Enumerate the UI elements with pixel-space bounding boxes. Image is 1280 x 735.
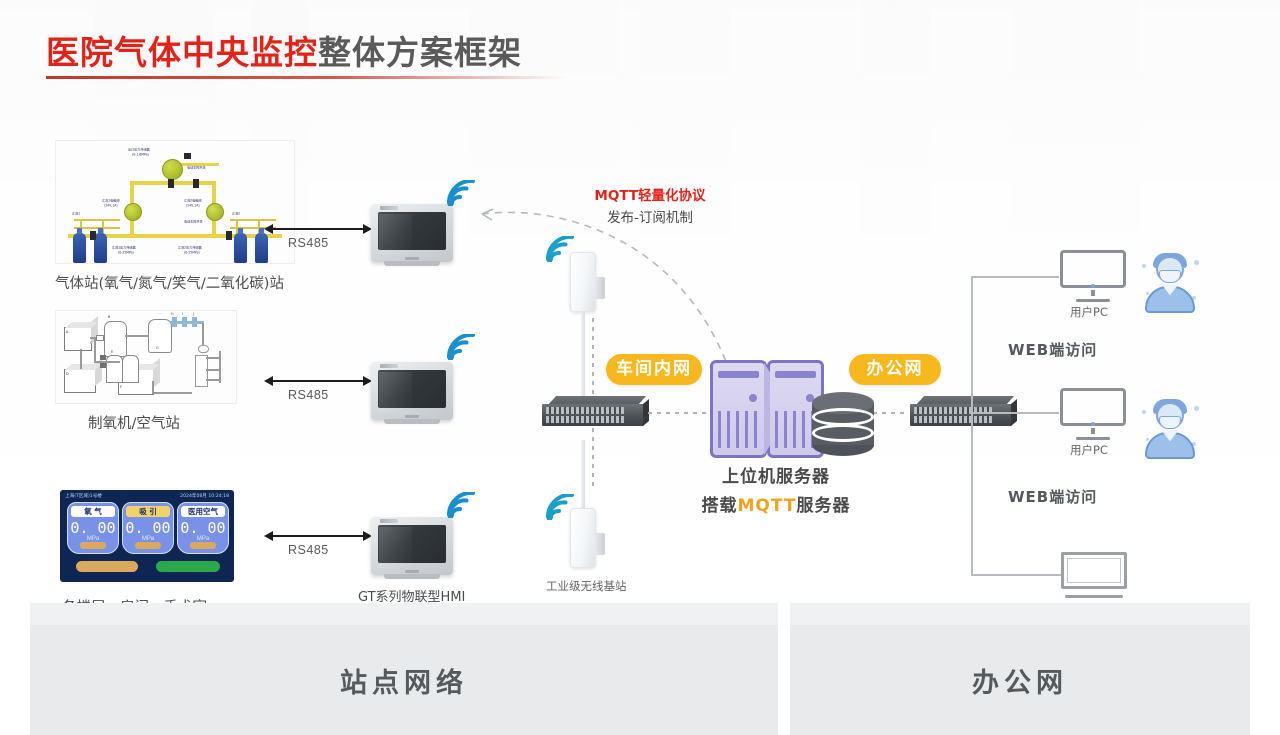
schematic-label: 汇流2压力传感器 — [178, 245, 202, 250]
page-title-highlight: 医院气体中央监控 — [46, 33, 318, 72]
switch-ports-row — [546, 416, 624, 423]
monitor-base — [1076, 437, 1110, 440]
monitor-screen — [1060, 250, 1126, 288]
schematic-label: (24V,1A) — [186, 203, 200, 208]
access-point-caption: 工业级无线基站 — [546, 578, 627, 594]
gauge-title: 医用空气 — [181, 506, 225, 517]
avatar-mask — [1159, 416, 1182, 429]
oxygen-plant-schematic: A E G D F H I J C B — [55, 310, 237, 404]
schematic-label: H — [171, 312, 174, 316]
title-block: 医院气体中央监控整体方案框架 — [46, 26, 522, 74]
server-vents — [718, 411, 759, 448]
hmi-screen-glare — [379, 214, 412, 255]
server-label-prefix: 搭载 — [702, 496, 738, 516]
schematic-label: (0-25MPa) — [184, 250, 200, 255]
gauge-bar — [190, 542, 216, 549]
rs485-arrow-3 — [272, 535, 364, 537]
schematic-label: 汇流1压力传感器 — [112, 245, 136, 250]
link-ap-to-switch — [592, 318, 594, 396]
server-header — [775, 371, 816, 377]
schematic-label: J — [193, 312, 194, 316]
schematic-label: A — [66, 330, 68, 334]
monitor-neck — [1091, 290, 1095, 296]
server-rack-icon[interactable] — [710, 360, 824, 458]
monitor-icon[interactable] — [1060, 388, 1126, 440]
monitor-icon[interactable] — [1060, 250, 1126, 302]
hmi-screen-glare — [379, 372, 412, 413]
schematic-label: 汇流2 — [232, 211, 240, 216]
mqtt-note-line2: 发布-订阅机制 — [565, 206, 735, 226]
rs485-arrow-2 — [272, 380, 364, 382]
hmi-device-1[interactable] — [371, 204, 453, 262]
gauge-value: 0. 00 — [178, 519, 228, 537]
panel-alarm-button[interactable] — [76, 561, 138, 572]
schematic-label: B — [108, 315, 110, 319]
office-branch-2 — [971, 412, 1059, 414]
gas-station-caption: 气体站(氧气/氮气/笑气/二氧化碳)站 — [55, 272, 284, 293]
mqtt-note: MQTT轻量化协议 发布-订阅机制 — [565, 184, 735, 226]
rs485-label-1: RS485 — [288, 236, 329, 250]
oxygen-plant-caption: 制氧机/空气站 — [88, 412, 180, 433]
ap-mount — [594, 533, 605, 555]
schematic-label: 电动主控开关 — [187, 165, 206, 170]
tv-icon[interactable] — [1061, 552, 1127, 598]
server-label-highlight: MQTT — [738, 496, 797, 516]
web-access-label-2: WEB端访问 — [1008, 486, 1097, 507]
link-switch-to-ap — [592, 428, 594, 490]
wireless-access-point-icon[interactable] — [570, 508, 596, 568]
room-hmi-panel: 上海(T区域)1号楼 2024年08月 10:24:18 氧 气 0. 00 M… — [60, 490, 234, 582]
hmi-device-3[interactable] — [371, 517, 453, 575]
office-bus-vertical — [971, 276, 973, 576]
server-label-suffix: 服务器 — [796, 496, 850, 516]
hmi-device-2[interactable] — [371, 362, 453, 420]
schematic-label: 汇流1电磁阀 — [102, 198, 119, 203]
hmi-logo — [380, 206, 398, 210]
gauge-title: 氧 气 — [71, 506, 115, 517]
gauge-card: 医用空气 0. 00 MPa — [177, 502, 229, 554]
gauge-bar — [80, 542, 106, 549]
page-title: 医院气体中央监控整体方案框架 — [46, 26, 522, 74]
component-e — [104, 321, 127, 357]
user-pc-1-label: 用户PC — [1070, 304, 1108, 320]
hmi-brand-mark — [405, 257, 418, 260]
network-pill-plant: 车间内网 — [606, 354, 702, 385]
server-label-line1: 上位机服务器 — [648, 462, 904, 487]
schematic-label: 汇流2电磁阀 — [184, 198, 201, 203]
title-underline — [46, 76, 566, 79]
hmi-stand — [384, 574, 440, 579]
gauge-value: 0. 00 — [68, 519, 118, 537]
gauge-value: 0. 00 — [123, 519, 173, 537]
gauge-bar — [135, 542, 161, 549]
schematic-label: 出口压力传感器 — [128, 147, 150, 152]
link-switch-to-server — [648, 412, 710, 414]
monitor-base — [1076, 299, 1110, 302]
mqtt-note-line1: MQTT轻量化协议 — [565, 184, 735, 204]
zone-site-network: 站点网络 — [30, 625, 778, 735]
panel-header-right: 2024年08月 10:24:18 — [180, 493, 229, 499]
rs485-label-2: RS485 — [288, 388, 329, 402]
server-vents — [775, 411, 816, 448]
wifi-icon — [446, 492, 476, 518]
schematic-label: D — [66, 372, 69, 376]
database-cylinder-icon — [812, 392, 874, 456]
office-branch-1 — [971, 276, 1059, 278]
switch-ports-row — [914, 416, 992, 423]
zone-site-network-label: 站点网络 — [340, 661, 468, 700]
server-fold — [764, 362, 771, 456]
monitor-neck — [1091, 428, 1095, 434]
rs485-arrow-1 — [272, 228, 364, 230]
gauge-card: 氧 气 0. 00 MPa — [67, 502, 119, 554]
server-indicator — [749, 394, 757, 402]
hmi-screen-glare — [379, 527, 412, 568]
page-title-rest: 整体方案框架 — [318, 33, 522, 72]
ap-body — [570, 252, 596, 312]
ap-mount — [594, 277, 605, 299]
gauge-title: 吸 引 — [126, 506, 170, 517]
user-pc-2-label: 用户PC — [1070, 442, 1108, 458]
switch-ports-row — [546, 407, 624, 414]
wireless-access-point-icon[interactable] — [570, 252, 596, 312]
schematic-label: (24V,1A) — [104, 203, 118, 208]
panel-status-button[interactable] — [156, 561, 220, 572]
zone-office-network-label: 办公网 — [972, 661, 1068, 700]
web-access-label-1: WEB端访问 — [1008, 339, 1097, 360]
schematic-label: E — [111, 350, 113, 354]
schematic-label: C — [90, 341, 92, 345]
rs485-label-3: RS485 — [288, 543, 329, 557]
panel-header-left: 上海(T区域)1号楼 — [65, 493, 102, 499]
zone-office-network: 办公网 — [790, 625, 1250, 735]
ap-body — [570, 508, 596, 568]
gas-station-schematic: 出口压力传感器 (0-1.6MPa) 电动主控开关 汇流1电磁阀 (24V,1A… — [55, 140, 295, 264]
server-label-line2: 搭载MQTT服务器 — [648, 491, 904, 516]
tv-screen — [1061, 552, 1127, 589]
server-label: 上位机服务器 搭载MQTT服务器 — [648, 462, 904, 516]
schematic-label: F — [120, 385, 122, 389]
switch-face — [542, 404, 644, 426]
schematic-label: (0-25MPa) — [118, 250, 134, 255]
monitor-screen — [1060, 388, 1126, 426]
medical-staff-avatar-icon — [1140, 398, 1200, 460]
hmi-stand — [384, 261, 440, 266]
switch-face — [910, 404, 1012, 426]
hmi-logo — [380, 364, 398, 368]
network-switch-icon[interactable] — [542, 396, 644, 428]
server-half-left — [710, 360, 767, 458]
office-branch-3 — [971, 574, 1061, 576]
tv-stand — [1065, 595, 1123, 598]
gauge-card: 吸 引 0. 00 MPa — [122, 502, 174, 554]
component-g — [148, 319, 172, 353]
db-ring — [812, 424, 874, 442]
schematic-label: I — [182, 312, 183, 316]
hmi-stand — [384, 419, 440, 424]
schematic-label: G — [156, 346, 159, 350]
server-header — [718, 371, 759, 377]
medical-staff-avatar-icon — [1140, 252, 1200, 314]
network-pill-office: 办公网 — [849, 354, 941, 385]
schematic-label: 汇流1 — [72, 211, 80, 216]
component-tanks — [106, 355, 123, 383]
hmi-brand-mark — [405, 415, 418, 418]
schematic-label: (0-1.6MPa) — [132, 152, 149, 157]
schematic-label: 电动主控开关 — [184, 219, 203, 224]
hmi-logo — [380, 519, 398, 523]
avatar-mask — [1159, 270, 1182, 283]
hmi-brand-mark — [405, 570, 418, 573]
